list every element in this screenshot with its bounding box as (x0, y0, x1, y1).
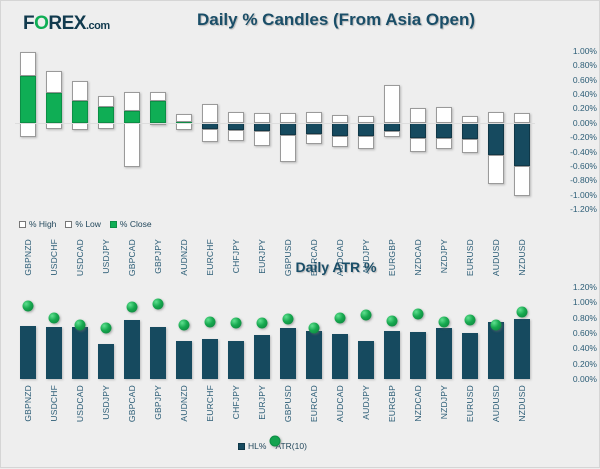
atr-hl-bar (280, 328, 296, 379)
candle-close-segment (228, 123, 244, 130)
candle-low-segment (332, 136, 348, 147)
atr-y-tick: 1.00% (545, 297, 597, 307)
candle-high-segment (46, 71, 62, 93)
logo-euro-o-icon: O (34, 13, 48, 34)
candles-y-tick: -1.20% (545, 204, 597, 214)
candles-zero-line (15, 123, 535, 124)
candle-high-segment (488, 112, 504, 123)
candles-legend: % High% Low% Close (19, 219, 152, 229)
atr-x-label: EURCHF (205, 385, 215, 422)
atr-x-label: AUDCAD (335, 385, 345, 422)
atr-hl-bar (228, 341, 244, 379)
atr-x-label: NZDJPY (439, 385, 449, 419)
atr-hl-bar (98, 344, 114, 379)
atr-marker-dot (387, 315, 398, 326)
candle-close-segment (488, 123, 504, 155)
candles-y-tick: 0.60% (545, 75, 597, 85)
atr-x-label: GBPCAD (127, 385, 137, 422)
candle-high-segment (20, 52, 36, 76)
atr-marker-dot (23, 301, 34, 312)
atr-marker-dot (517, 306, 528, 317)
candle-low-segment (72, 123, 88, 130)
atr-hl-bar (72, 327, 88, 379)
logo-suffix: .com (86, 20, 110, 32)
atr-x-label: EURJPY (257, 385, 267, 420)
atr-marker-dot (335, 312, 346, 323)
candle-close-segment (124, 111, 140, 123)
atr-marker-dot (257, 318, 268, 329)
legend-swatch-open (19, 221, 26, 228)
candles-y-tick: -0.20% (545, 132, 597, 142)
atr-hl-bar (462, 333, 478, 379)
atr-marker-dot (75, 319, 86, 330)
atr-hl-bar (20, 326, 36, 379)
atr-marker-dot (231, 318, 242, 329)
atr-marker-dot (49, 313, 60, 324)
atr-x-label: GBPJPY (153, 385, 163, 420)
candle-close-segment (306, 123, 322, 134)
atr-hl-bar (410, 332, 426, 379)
candle-low-segment (410, 138, 426, 152)
atr-x-label: AUDUSD (491, 385, 501, 422)
atr-marker-dot (101, 322, 112, 333)
atr-y-tick: 0.80% (545, 313, 597, 323)
candle-low-segment (228, 130, 244, 141)
atr-hl-bar (514, 319, 530, 379)
candle-low-segment (358, 136, 374, 149)
candle-high-segment (514, 113, 530, 122)
candle-high-segment (202, 104, 218, 123)
legend-label: HL% (248, 441, 266, 451)
candle-close-segment (254, 123, 270, 131)
candles-y-tick: 0.40% (545, 89, 597, 99)
candle-low-segment (488, 155, 504, 184)
candle-low-segment (254, 131, 270, 146)
candle-high-segment (436, 107, 452, 123)
atr-x-label: NZDCAD (413, 385, 423, 422)
candle-low-segment (514, 166, 530, 196)
atr-x-label: GBPUSD (283, 385, 293, 422)
candle-low-segment (462, 139, 478, 153)
candle-low-segment (124, 123, 140, 168)
candle-high-segment (98, 96, 114, 107)
candle-close-segment (46, 93, 62, 123)
candle-close-segment (332, 123, 348, 136)
atr-marker-dot (283, 314, 294, 325)
atr-hl-bar (202, 339, 218, 379)
logo-text-1: F (23, 13, 34, 34)
candle-high-segment (332, 115, 348, 123)
candle-low-segment (384, 131, 400, 137)
candle-low-segment (436, 138, 452, 149)
atr-hl-bar (436, 328, 452, 379)
atr-hl-bar (46, 327, 62, 379)
candle-close-segment (358, 123, 374, 137)
atr-x-label: CHFJPY (231, 385, 241, 419)
forex-logo: FOREX.com (23, 13, 110, 35)
legend-item[interactable]: % Close (110, 219, 152, 229)
candle-close-segment (280, 123, 296, 135)
candle-close-segment (150, 101, 166, 123)
atr-y-tick: 0.00% (545, 374, 597, 384)
legend-swatch-open (65, 221, 72, 228)
candles-y-tick: -0.60% (545, 161, 597, 171)
candle-close-segment (514, 123, 530, 166)
atr-x-label: USDCAD (75, 385, 85, 422)
atr-y-tick: 0.20% (545, 359, 597, 369)
candle-high-segment (150, 92, 166, 101)
candle-high-segment (306, 112, 322, 123)
candles-plot-area (15, 39, 535, 209)
atr-y-tick: 0.60% (545, 328, 597, 338)
candle-close-segment (384, 123, 400, 132)
legend-label: % Low (75, 219, 101, 229)
atr-x-label: AUDNZD (179, 385, 189, 422)
page-title: Daily % Candles (From Asia Open) (171, 10, 501, 30)
atr-y-tick: 0.40% (545, 343, 597, 353)
atr-chart: Daily ATR % 1.20%1.00%0.80%0.60%0.40%0.2… (1, 259, 600, 469)
legend-item[interactable]: % High (19, 219, 56, 229)
candle-high-segment (254, 113, 270, 122)
candle-low-segment (202, 129, 218, 142)
candle-close-segment (436, 123, 452, 138)
candle-high-segment (280, 113, 296, 123)
atr-x-label: EURGBP (387, 385, 397, 422)
atr-marker-dot (491, 320, 502, 331)
legend-item[interactable]: HL% (238, 441, 266, 451)
candles-y-tick: 0.20% (545, 103, 597, 113)
candle-high-segment (124, 92, 140, 111)
atr-x-label: USDCHF (49, 385, 59, 422)
legend-swatch-green (110, 221, 117, 228)
candle-low-segment (20, 123, 36, 137)
atr-legend: HL%ATR(10) (238, 441, 307, 451)
candle-low-segment (280, 135, 296, 162)
candle-close-segment (20, 76, 36, 123)
candles-y-tick: -0.80% (545, 175, 597, 185)
logo-text-2: REX (48, 13, 86, 34)
candle-high-segment (228, 112, 244, 123)
atr-marker-dot (465, 314, 476, 325)
candle-high-segment (410, 108, 426, 122)
candles-chart: 1.00%0.80%0.60%0.40%0.20%0.00%-0.20%-0.4… (1, 39, 600, 269)
legend-label: % High (29, 219, 56, 229)
atr-x-label: EURCAD (309, 385, 319, 422)
atr-hl-bar (176, 341, 192, 379)
legend-label: % Close (120, 219, 152, 229)
atr-hl-bar (150, 327, 166, 379)
candle-high-segment (72, 81, 88, 101)
atr-hl-bar (124, 320, 140, 379)
candles-y-tick: -0.40% (545, 147, 597, 157)
page-header: FOREX.com Daily % Candles (From Asia Ope… (1, 1, 600, 41)
atr-marker-dot (205, 317, 216, 328)
atr-x-label: USDJPY (101, 385, 111, 420)
legend-item[interactable]: ATR(10) (275, 441, 307, 451)
legend-swatch-navy (238, 443, 245, 450)
atr-hl-bar (332, 334, 348, 379)
candles-y-tick: -1.00% (545, 190, 597, 200)
candle-close-segment (410, 123, 426, 138)
legend-item[interactable]: % Low (65, 219, 101, 229)
candle-low-segment (306, 134, 322, 144)
legend-swatch-dot (270, 435, 281, 446)
atr-title: Daily ATR % (171, 259, 501, 275)
atr-x-label: AUDJPY (361, 385, 371, 420)
atr-marker-dot (309, 322, 320, 333)
atr-marker-dot (153, 298, 164, 309)
atr-hl-bar (254, 335, 270, 379)
candle-close-segment (72, 101, 88, 123)
atr-hl-bar (358, 341, 374, 379)
atr-x-label: NZDUSD (517, 385, 527, 422)
candles-y-tick: 1.00% (545, 46, 597, 56)
atr-marker-dot (127, 301, 138, 312)
atr-marker-dot (361, 310, 372, 321)
atr-marker-dot (439, 317, 450, 328)
candle-close-segment (98, 107, 114, 123)
atr-x-label: EURUSD (465, 385, 475, 422)
candle-close-segment (462, 123, 478, 139)
atr-marker-dot (413, 308, 424, 319)
atr-x-label: GBPNZD (23, 385, 33, 422)
atr-hl-bar (384, 331, 400, 379)
candle-low-segment (176, 123, 192, 130)
atr-marker-dot (179, 320, 190, 331)
candle-high-segment (176, 114, 192, 122)
candles-y-tick: 0.80% (545, 60, 597, 70)
atr-y-tick: 1.20% (545, 282, 597, 292)
candles-y-tick: 0.00% (545, 118, 597, 128)
atr-plot-area (15, 287, 535, 379)
atr-hl-bar (306, 331, 322, 379)
candle-high-segment (384, 85, 400, 123)
